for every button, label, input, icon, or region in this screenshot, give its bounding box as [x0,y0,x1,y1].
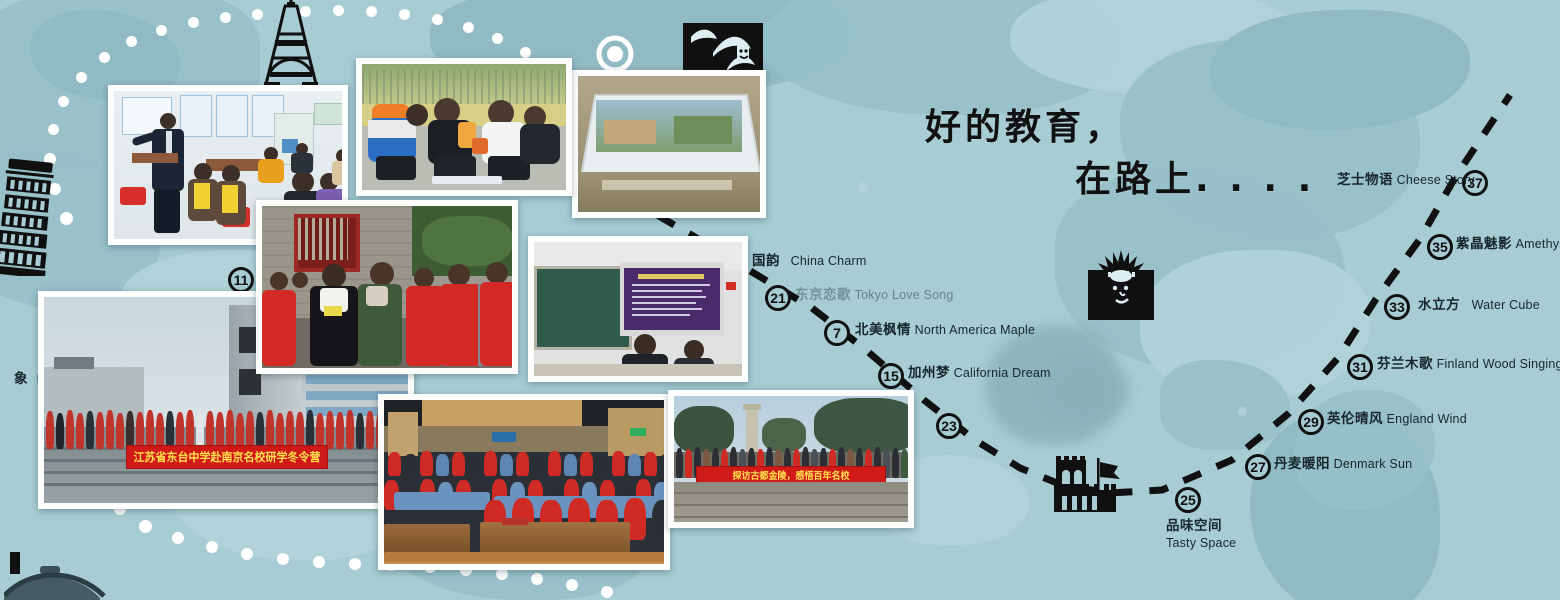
route-label-21: 东京恋歌 Tokyo Love Song [795,287,954,304]
route-label-7: 北美枫情 North America Maple [855,322,1035,339]
route-label-15: 加州梦 California Dream [908,365,1051,382]
route-label-37: 芝士物语 Cheese Story [1337,172,1475,189]
route-marker-33[interactable]: 33 [1384,294,1410,320]
photo-lecture-hall-speaker[interactable] [528,236,748,382]
route-label-27: 丹麦暖阳 Denmark Sun [1274,456,1412,473]
route-label-china-charm-cn: 国韵 [752,253,780,268]
route-label-27-cn: 丹麦暖阳 [1274,456,1330,471]
route-marker-31[interactable]: 31 [1347,354,1373,380]
route-label-15-cn: 加州梦 [908,365,950,380]
route-label-31-cn: 芬兰木歌 [1377,356,1433,371]
route-label-33-cn: 水立方 [1418,297,1460,312]
eiffel-tower-icon [254,0,328,92]
route-label-37-cn: 芝士物语 [1337,172,1393,187]
route-marker-27[interactable]: 27 [1245,454,1271,480]
bridge-icon [4,552,114,600]
route-marker-29[interactable]: 29 [1298,409,1324,435]
castle-icon [1050,452,1126,514]
route-label-25: 品味空间 Tasty Space [1166,517,1236,552]
photo-campus-exhibit[interactable] [572,70,766,218]
route-label-15-en: California Dream [954,366,1051,380]
sydney-opera-house-icon [683,23,763,73]
photo-campus-tour-guide[interactable] [256,200,518,374]
steps-banner: 江苏省东台中学赴南京名校研学冬令营 [126,445,328,469]
route-label-33-en: Water Cube [1472,298,1540,312]
route-marker-23[interactable]: 23 [936,413,962,439]
route-marker-11[interactable]: 11 [228,267,254,293]
poster-canvas: 好的教育， 在路上. . . . [0,0,1560,600]
route-label-partial-left-cn: 象 [14,371,28,386]
route-label-7-cn: 北美枫情 [855,322,911,337]
memorial-banner-text: 探访古都金陵，感悟百年名校 [732,468,849,482]
route-marker-25[interactable]: 25 [1175,487,1201,513]
statue-of-liberty-icon [1082,248,1160,320]
route-label-china-charm-en: China Charm [791,254,867,268]
route-label-35-en: Amethyst Ch [1516,237,1560,251]
route-label-29-cn: 英伦晴风 [1327,411,1383,426]
route-label-25-en: Tasty Space [1166,535,1236,552]
headline-line-1: 好的教育， [925,98,1125,150]
route-label-37-en: Cheese Story [1397,173,1475,187]
route-label-35: 紫晶魅影 Amethyst Ch [1456,236,1560,253]
route-label-21-cn: 东京恋歌 [795,287,851,302]
route-label-25-cn: 品味空间 [1166,517,1236,535]
route-marker-15[interactable]: 15 [878,363,904,389]
route-label-31: 芬兰木歌 Finland Wood Singing [1377,356,1560,373]
photo-outdoor-activity[interactable] [356,58,572,196]
route-label-7-en: North America Maple [915,323,1036,337]
leaning-tower-of-pisa-icon [0,146,54,276]
route-label-31-en: Finland Wood Singing [1437,357,1560,371]
route-marker-7[interactable]: 7 [824,320,850,346]
route-label-29-en: England Wind [1387,412,1467,426]
photo-memorial-group-banner[interactable]: 探访古都金陵，感悟百年名校 [668,390,914,528]
route-label-35-cn: 紫晶魅影 [1456,236,1512,251]
route-label-china-charm: 国韵 China Charm [752,253,866,270]
route-marker-21[interactable]: 21 [765,285,791,311]
route-label-29: 英伦晴风 England Wind [1327,411,1467,428]
steps-banner-text: 江苏省东台中学赴南京名校研学冬令营 [134,449,321,466]
route-label-21-en: Tokyo Love Song [855,288,954,302]
route-marker-35[interactable]: 35 [1427,234,1453,260]
photo-auditorium-audience[interactable] [378,394,670,570]
route-label-27-en: Denmark Sun [1334,457,1413,471]
route-label-33: 水立方 Water Cube [1418,297,1540,314]
headline-line-2: 在路上. . . . [1075,150,1315,202]
